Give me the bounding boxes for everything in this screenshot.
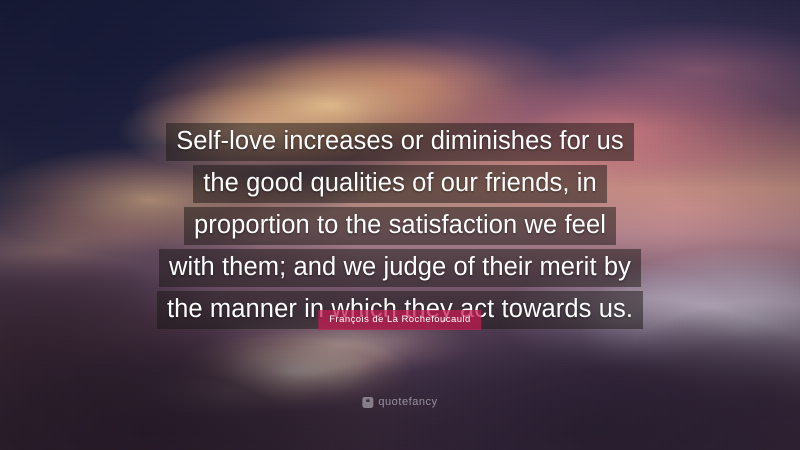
quote-line: the good qualities of our friends, in: [193, 165, 607, 203]
quote-line: Self-love increases or diminishes for us: [166, 123, 634, 161]
quote-text-block: Self-love increases or diminishes for us…: [0, 123, 800, 333]
quote-mark-icon: ❝: [362, 397, 373, 408]
watermark-brand-label: quotefancy: [378, 396, 437, 408]
watermark: ❝ quotefancy: [362, 396, 437, 408]
quote-line: proportion to the satisfaction we feel: [184, 207, 616, 245]
author-attribution-badge: François de La Rochefoucauld: [318, 310, 481, 330]
quote-line: with them; and we judge of their merit b…: [159, 249, 641, 287]
quote-poster: Self-love increases or diminishes for us…: [0, 0, 800, 450]
